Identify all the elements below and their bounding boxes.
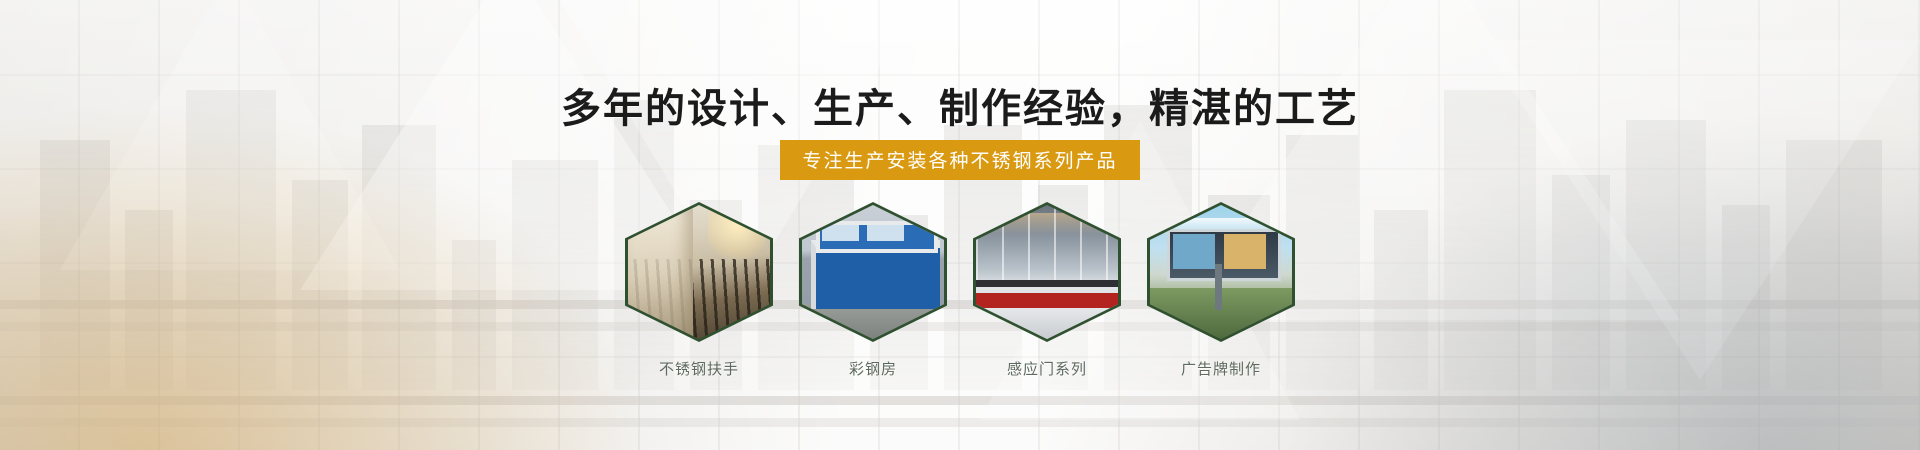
banner-content: 多年的设计、生产、制作经验，精湛的工艺 专注生产安装各种不锈钢系列产品 不锈钢扶… xyxy=(0,0,1920,450)
product-label: 感应门系列 xyxy=(972,358,1122,379)
banner-headline: 多年的设计、生产、制作经验，精湛的工艺 xyxy=(0,76,1920,134)
product-item-handrail[interactable]: 不锈钢扶手 xyxy=(624,202,774,379)
hexagon-frame xyxy=(799,202,947,342)
stainless-handrail-thumb xyxy=(628,205,770,339)
product-label: 广告牌制作 xyxy=(1146,358,1296,379)
product-hexagon-row: 不锈钢扶手 彩钢房 感应门系列 xyxy=(0,202,1920,379)
sensor-door-thumb xyxy=(976,205,1118,339)
billboard-making-thumb xyxy=(1150,205,1292,339)
hexagon-frame xyxy=(973,202,1121,342)
banner-badge: 专注生产安装各种不锈钢系列产品 xyxy=(780,140,1139,180)
hexagon-frame xyxy=(625,202,773,342)
banner-badge-wrapper: 专注生产安装各种不锈钢系列产品 xyxy=(0,140,1920,180)
product-item-sensor-door[interactable]: 感应门系列 xyxy=(972,202,1122,379)
promo-banner: 多年的设计、生产、制作经验，精湛的工艺 专注生产安装各种不锈钢系列产品 不锈钢扶… xyxy=(0,0,1920,450)
product-label: 不锈钢扶手 xyxy=(624,358,774,379)
product-item-billboard[interactable]: 广告牌制作 xyxy=(1146,202,1296,379)
product-item-color-steel-house[interactable]: 彩钢房 xyxy=(798,202,948,379)
product-label: 彩钢房 xyxy=(798,358,948,379)
color-steel-house-thumb xyxy=(802,205,944,339)
hexagon-frame xyxy=(1147,202,1295,342)
